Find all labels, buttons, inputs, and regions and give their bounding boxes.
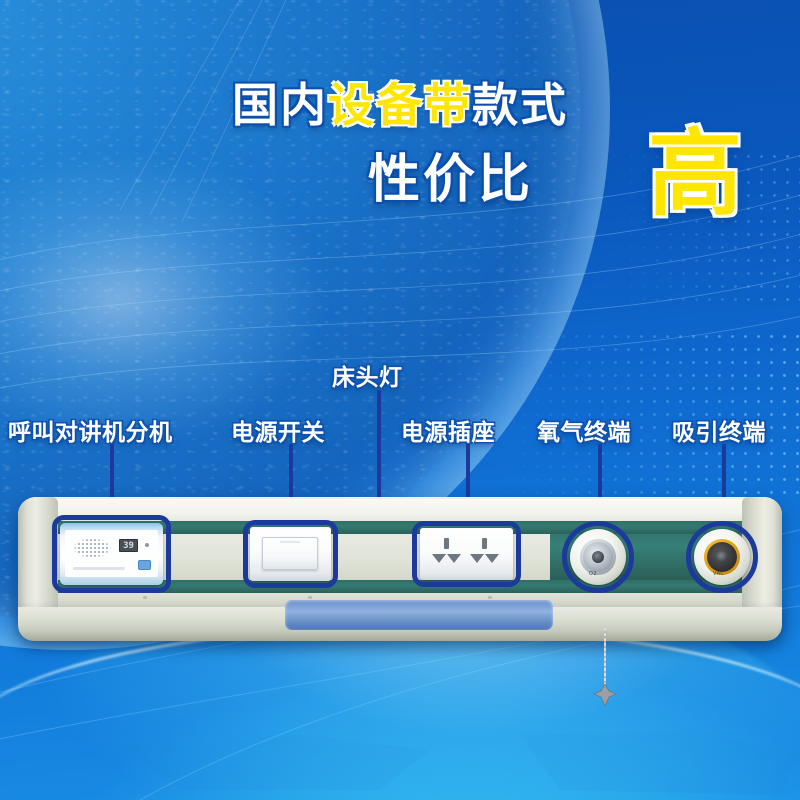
highlight-circle-oxygen [562,521,634,593]
banner-stage: 国内设备带款式 性价比 高 呼叫对讲机分机 电源开关 床头灯 电源插座 氧气终端… [0,0,800,800]
highlight-circle-suction [686,521,758,593]
callout-label-bed-lamp: 床头灯 [332,358,403,392]
callout-label-power-switch: 电源开关 [231,413,325,447]
headline-part-1: 国内 [232,78,328,132]
callout-label-suction: 吸引终端 [672,413,766,447]
headline-emphasis-char: 高 [648,128,742,222]
headline-line-2-wrap: 性价比 高 [0,148,800,258]
panel-fastener [488,596,492,599]
pull-cord-handle-icon[interactable] [592,684,618,708]
headline-line-2: 性价比 [368,154,533,206]
headline-block: 国内设备带款式 性价比 高 [0,82,800,258]
callout-label-oxygen: 氧气终端 [537,413,631,447]
panel-fastener [308,596,312,599]
bed-lamp-diffuser [285,600,553,630]
headline-part-2-highlight: 设备带 [328,78,472,132]
highlight-box-intercom [52,515,171,593]
headline-part-3: 款式 [472,78,568,132]
panel-fastener [143,596,147,599]
callout-label-intercom: 呼叫对讲机分机 [8,413,173,447]
callout-label-power-socket: 电源插座 [401,413,495,447]
lamp-pull-cord[interactable] [604,628,606,692]
highlight-box-power-switch [243,520,338,588]
highlight-box-power-socket [412,521,521,587]
